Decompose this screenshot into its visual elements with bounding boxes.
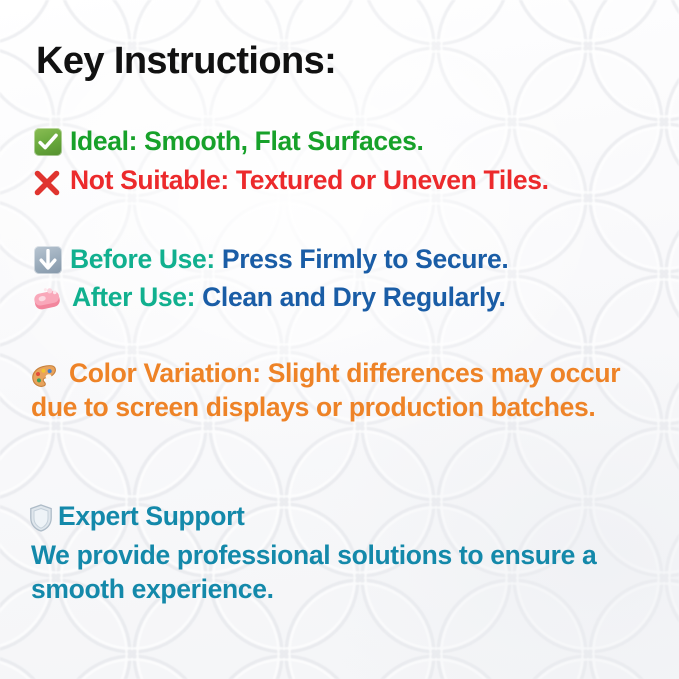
shield-icon (28, 503, 54, 533)
instructions-card: Key Instructions: Ideal: Smooth, Flat Su… (0, 0, 679, 679)
instruction-label-ideal: Ideal: Smooth, Flat Surfaces. (70, 125, 424, 157)
instruction-item-expert-support-heading: Expert Support (28, 500, 245, 532)
instruction-body-expert-support: We provide professional solutions to ens… (31, 538, 631, 607)
soap-icon (32, 286, 64, 314)
instruction-value-after-use: Clean and Dry Regularly. (195, 281, 505, 313)
instruction-item-before-use: Before Use: Press Firmly to Secure. (34, 243, 508, 275)
down-arrow-icon (34, 246, 62, 274)
cross-mark-icon (32, 168, 62, 198)
white-check-mark-icon (34, 128, 62, 156)
instruction-item-ideal: Ideal: Smooth, Flat Surfaces. (34, 125, 424, 157)
instruction-item-after-use: After Use: Clean and Dry Regularly. (32, 281, 505, 313)
instruction-heading-expert-support: Expert Support (58, 500, 245, 532)
instruction-item-not-suitable: Not Suitable: Textured or Uneven Tiles. (32, 164, 549, 196)
instruction-item-color-variation: Color Variation: Slight differences may … (31, 356, 631, 425)
page-title: Key Instructions: (36, 40, 336, 83)
instruction-label-before-use: Before Use: (70, 243, 215, 275)
instruction-label-color-variation: Color Variation: Slight differences may … (31, 358, 620, 422)
artist-palette-icon (31, 364, 61, 392)
instruction-value-before-use: Press Firmly to Secure. (215, 243, 509, 275)
instruction-label-after-use: After Use: (72, 281, 195, 313)
instruction-label-not-suitable: Not Suitable: Textured or Uneven Tiles. (70, 164, 549, 196)
